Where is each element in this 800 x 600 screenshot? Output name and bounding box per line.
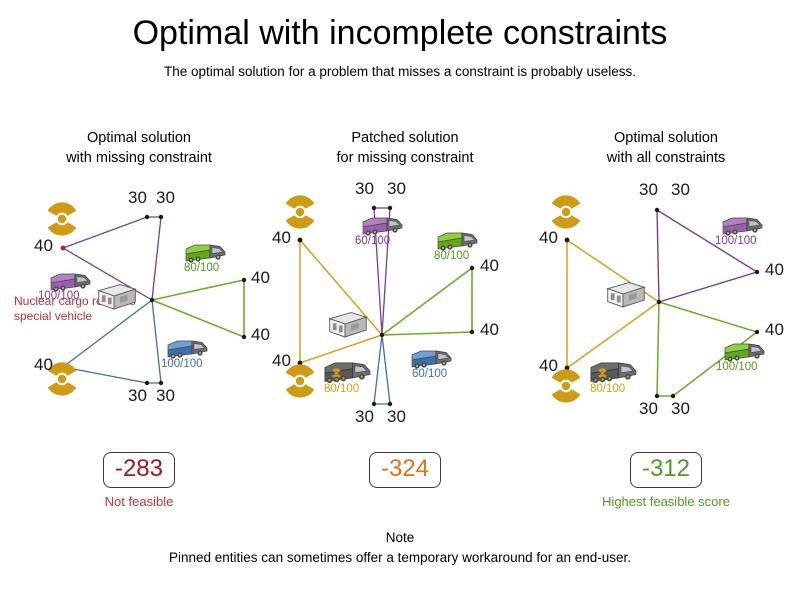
- panel-optimal-missing-constraint: Optimal solution with missing constraint…: [6, 120, 272, 540]
- demand-label: 40: [765, 320, 784, 340]
- demand-label: 40: [539, 356, 558, 376]
- demand-label: 40: [480, 320, 499, 340]
- footer-note-label: Note: [0, 528, 800, 548]
- demand-label: 30: [156, 188, 175, 208]
- route-green: [152, 280, 244, 337]
- demand-label: 30: [639, 399, 658, 419]
- route-gold: [300, 240, 382, 363]
- panel-2-score: -324: [272, 452, 538, 494]
- panel-3-heading-line1: Optimal solution: [533, 128, 799, 148]
- demand-label: 30: [128, 386, 147, 406]
- vehicle-capacity-label: 60/100: [355, 235, 390, 247]
- panel-2-heading-line2: for missing constraint: [272, 148, 538, 168]
- score-value: -283: [103, 452, 175, 488]
- score-feasibility-label: Not feasible: [6, 494, 272, 509]
- nuclear-customer-icon: [43, 200, 81, 238]
- vehicle-capacity-label: 80/100: [590, 383, 625, 395]
- panel-1-heading-line2: with missing constraint: [6, 148, 272, 168]
- score-value: -324: [369, 452, 441, 488]
- demand-label: 30: [671, 180, 690, 200]
- demand-label: 30: [128, 188, 147, 208]
- demand-label: 40: [765, 260, 784, 280]
- vehicle-capacity-label: 100/100: [715, 235, 757, 247]
- demand-label: 40: [34, 355, 53, 375]
- depot-icon: [603, 278, 649, 310]
- vehicle-capacity-label: 60/100: [412, 368, 447, 380]
- demand-label: 40: [272, 228, 291, 248]
- demand-label: 40: [34, 236, 53, 256]
- demand-label: 30: [355, 179, 374, 199]
- route-green: [382, 268, 472, 335]
- vehicle-capacity-label: 100/100: [38, 290, 80, 302]
- panel-2-heading: Patched solution for missing constraint: [272, 120, 538, 168]
- demand-label: 40: [251, 268, 270, 288]
- footer-note: Note Pinned entities can sometimes offer…: [0, 528, 800, 568]
- panel-1-diagram: 100/100 80/100: [6, 180, 272, 430]
- vehicle-capacity-label: 80/100: [184, 262, 219, 274]
- nuclear-customer-icon: [547, 193, 585, 231]
- page-title: Optimal with incomplete constraints: [0, 14, 800, 53]
- panel-2-heading-line1: Patched solution: [272, 128, 538, 148]
- score-feasibility-label: Highest feasible score: [533, 494, 799, 509]
- demand-label: 30: [355, 407, 374, 427]
- panel-1-heading-line1: Optimal solution: [6, 128, 272, 148]
- page-subtitle: The optimal solution for a problem that …: [0, 64, 800, 79]
- panel-optimal-all-constraints: Optimal solution with all constraints: [533, 120, 799, 540]
- demand-label: 40: [251, 325, 270, 345]
- route-blue: [374, 335, 390, 404]
- vehicle-icon-gold-truck: [588, 356, 640, 386]
- demand-label: 40: [272, 351, 291, 371]
- vehicle-capacity-label: 100/100: [161, 358, 203, 370]
- nuclear-customer-icon: [281, 193, 319, 231]
- demand-label: 40: [539, 228, 558, 248]
- panel-1-score: -283 Not feasible: [6, 452, 272, 509]
- demand-label: 30: [671, 399, 690, 419]
- panel-3-diagram: 100/100: [533, 180, 799, 430]
- vehicle-capacity-label: 80/100: [324, 383, 359, 395]
- panel-2-diagram: 60/100 80/100: [272, 180, 538, 430]
- panel-3-heading: Optimal solution with all constraints: [533, 120, 799, 168]
- demand-label: 30: [156, 386, 175, 406]
- panel-3-score: -312 Highest feasible score: [533, 452, 799, 509]
- slide-root: Optimal with incomplete constraints The …: [0, 0, 800, 600]
- vehicle-capacity-label: 100/100: [716, 361, 758, 373]
- panel-1-heading: Optimal solution with missing constraint: [6, 120, 272, 168]
- depot-icon: [94, 280, 140, 312]
- panel-3-heading-line2: with all constraints: [533, 148, 799, 168]
- depot-icon: [325, 308, 371, 340]
- demand-label: 40: [480, 256, 499, 276]
- vehicle-capacity-label: 80/100: [434, 250, 469, 262]
- score-value: -312: [630, 452, 702, 488]
- panel-patched-solution: Patched solution for missing constraint: [272, 120, 538, 540]
- vehicle-icon-gold-truck: [322, 356, 374, 386]
- demand-label: 30: [387, 179, 406, 199]
- footer-note-text: Pinned entities can sometimes offer a te…: [0, 548, 800, 568]
- demand-label: 30: [639, 180, 658, 200]
- demand-label: 30: [387, 407, 406, 427]
